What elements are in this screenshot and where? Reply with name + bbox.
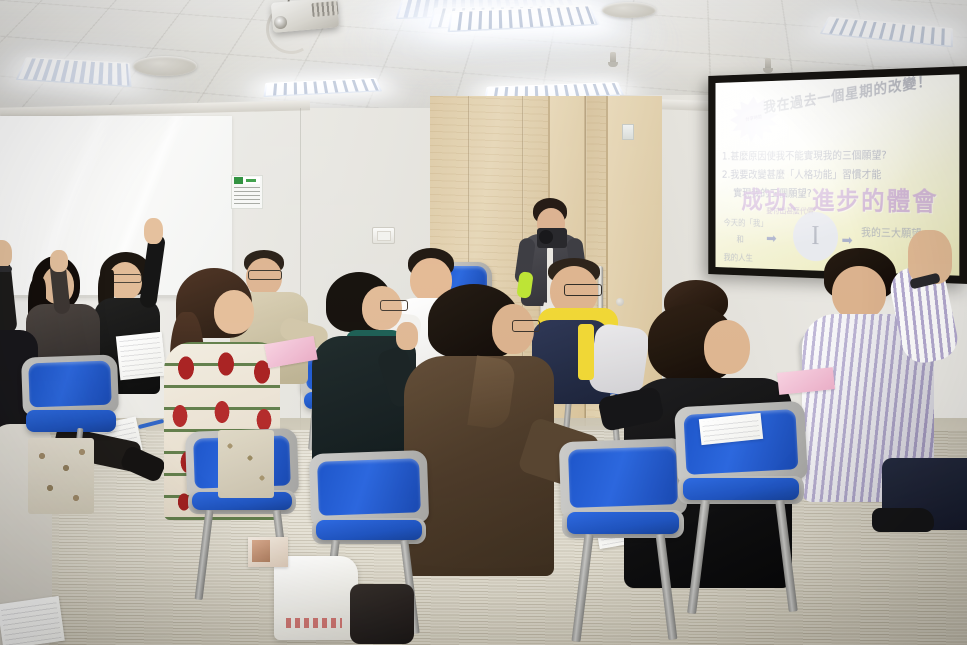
woman-floral-head (214, 290, 254, 334)
door-sign (622, 124, 634, 140)
light-switch-plate[interactable] (372, 227, 395, 244)
chair-backrest (674, 401, 808, 486)
exit-sign-graphic (234, 177, 260, 184)
chair-back-cushion (317, 458, 421, 516)
exit-sign-text-lines (234, 186, 260, 204)
man-vest-shirt-sleeve (588, 323, 651, 398)
chair-seat (683, 478, 799, 500)
slide-left-line-1: 今天的「我」 (724, 216, 768, 229)
slide-center-circle: I (793, 212, 838, 262)
slide-question-2: 2.我要改變甚麼「人格功能」習慣才能 (722, 166, 881, 182)
slide-title: 我在過去一個星期的改變！ (763, 74, 932, 117)
woman-updo-head (704, 320, 750, 374)
seminar-room-photo: 分享時間 我在過去一個星期的改變！ 1.甚麼原因使我不能實現我的三個願望? 2.… (0, 0, 967, 645)
slide-left-line-3: 我的人生 (724, 251, 753, 264)
chair-back-cushion (568, 446, 678, 508)
man-striped-shoe (872, 508, 934, 532)
chair-seat (567, 512, 679, 534)
magazine-cover-photo (252, 540, 270, 562)
tote-bag-second (218, 430, 274, 498)
sprinkler-head-1 (610, 52, 616, 64)
handout-sheet-white (116, 332, 166, 381)
woman-green-glasses (380, 300, 408, 311)
woman-smiling-raised-hand (144, 218, 163, 244)
woman-left-raised-hand (50, 250, 68, 272)
printed-tote-bag (28, 438, 94, 514)
man-beige-glasses (248, 270, 282, 280)
emergency-exit-notice-sign (231, 175, 263, 209)
woman-green-hand-on-chin (396, 322, 418, 350)
chair-seat (316, 520, 422, 540)
notepad-bottom-lines (1, 599, 62, 645)
chair-backrest (309, 450, 429, 526)
sprinkler-head-2 (765, 58, 771, 70)
chair-back-cushion (28, 361, 111, 408)
slide-arrow-left: ➡ (766, 230, 777, 247)
chair-backrest (559, 438, 688, 518)
man-striped-head (832, 266, 886, 320)
woman-smiling-glasses (110, 274, 142, 283)
projector-vent (311, 1, 338, 17)
slide-center-symbol: I (793, 212, 838, 262)
plastic-bag-print (286, 618, 342, 628)
camera-lens (539, 230, 553, 244)
slide-question-1: 1.甚麼原因使我不能實現我的三個願望? (722, 147, 887, 163)
dark-bag-on-floor (350, 584, 414, 644)
man-vest-glasses (564, 284, 602, 296)
door-lock-plate-2[interactable] (616, 298, 624, 306)
notepad-bottom-left (0, 596, 65, 645)
handout-text-lines (119, 335, 163, 377)
man-vest-yellow-edge (578, 324, 594, 380)
slide-left-line-2: 和 (736, 233, 743, 245)
chair-backrest (21, 354, 119, 415)
partial-wristwatch (0, 266, 12, 272)
projector-lens (274, 16, 287, 29)
man-brown-glasses (512, 320, 540, 332)
slide-arrow-right: ➡ (842, 231, 853, 248)
papers-lines (702, 416, 760, 442)
ceiling-speaker-1 (133, 56, 197, 76)
ceiling-speaker-2 (602, 2, 656, 18)
chair-seat (26, 410, 116, 432)
